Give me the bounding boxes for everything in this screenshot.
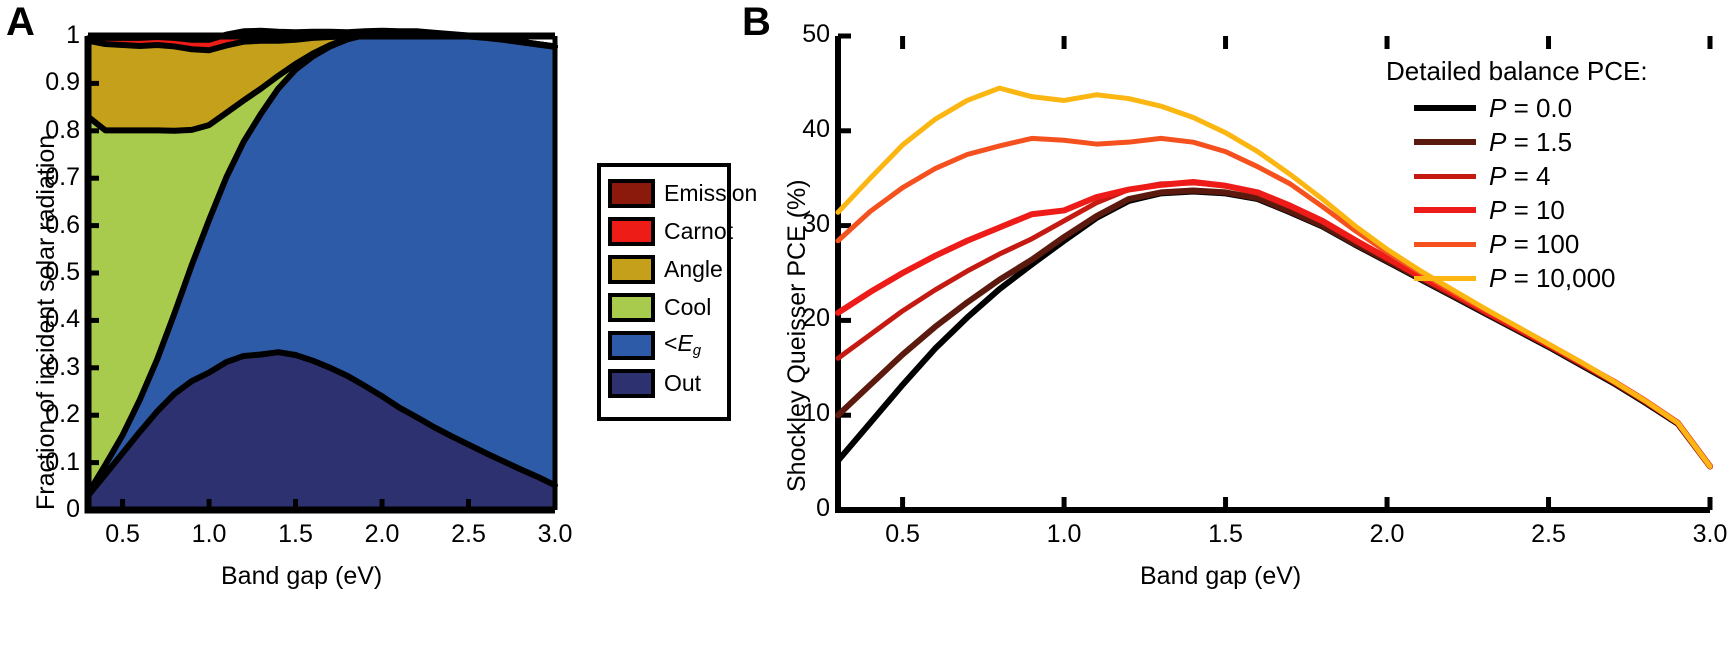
panel-b-xtick-2.0: 2.0 [1347, 520, 1427, 549]
panel-b-x-axis-title: Band gap (eV) [1140, 562, 1301, 591]
panel-a-ytick-0: 0 [22, 495, 80, 524]
panel-a-legend-item-emission: Emission [608, 174, 721, 212]
panel-b-ytick-50: 50 [768, 20, 830, 49]
panel-a-plot [60, 10, 560, 540]
panel-a-ytick-0.4: 0.4 [22, 305, 80, 334]
panel-a-ytick-0.8: 0.8 [22, 116, 80, 145]
legend-swatch-icon [608, 255, 655, 284]
panel-a-xtick-1.5: 1.5 [261, 520, 331, 549]
panel-a-legend-label: <Eg [664, 332, 701, 358]
panel-a-legend-item-cool: Cool [608, 288, 721, 326]
panel-b-xtick-2.5: 2.5 [1509, 520, 1589, 549]
panel-a-legend-label: Emission [664, 182, 757, 205]
panel-a-ytick-0.9: 0.9 [22, 68, 80, 97]
panel-b-xtick-0.5: 0.5 [863, 520, 943, 549]
panel-a-x-axis-title: Band gap (eV) [221, 562, 382, 591]
panel-a-ytick-0.7: 0.7 [22, 163, 80, 192]
panel-a-xtick-2.5: 2.5 [434, 520, 504, 549]
panel-b-xtick-1.5: 1.5 [1186, 520, 1266, 549]
panel-b-ytick-10: 10 [768, 399, 830, 428]
legend-line-icon [1414, 242, 1476, 247]
panel-b-legend-item-p100: P = 100 [1386, 227, 1686, 261]
panel-a-xtick-3.0: 3.0 [520, 520, 590, 549]
panel-b-legend-item-p15: P = 1.5 [1386, 125, 1686, 159]
panel-b-legend-label: P = 0.0 [1489, 95, 1572, 121]
panel-b-xtick-3.0: 3.0 [1670, 520, 1729, 549]
panel-b-ytick-0: 0 [768, 494, 830, 523]
panel-a-legend-label: Out [664, 372, 701, 395]
panel-b-legend-title: Detailed balance PCE: [1386, 56, 1686, 87]
panel-b-legend-label: P = 10,000 [1489, 265, 1616, 291]
panel-a-xtick-1.0: 1.0 [174, 520, 244, 549]
panel-b-ytick-40: 40 [768, 115, 830, 144]
panel-b-legend-item-p00: P = 0.0 [1386, 91, 1686, 125]
panel-a-ytick-0.2: 0.2 [22, 400, 80, 429]
panel-a-xtick-2.0: 2.0 [347, 520, 417, 549]
legend-line-icon [1414, 174, 1476, 179]
panel-b-xtick-1.0: 1.0 [1024, 520, 1104, 549]
panel-b-legend-label: P = 4 [1489, 163, 1550, 189]
figure-root: A Fraction of incident solar radiation B… [0, 0, 1729, 654]
panel-b-legend-label: P = 1.5 [1489, 129, 1572, 155]
panel-b-legend-label: P = 100 [1489, 231, 1579, 257]
panel-a-legend-item-angle: Angle [608, 250, 721, 288]
panel-b-ytick-30: 30 [768, 210, 830, 239]
legend-swatch-icon [608, 293, 655, 322]
panel-b-legend-item-p10000: P = 10,000 [1386, 261, 1686, 295]
panel-b-ytick-20: 20 [768, 304, 830, 333]
panel-a-legend-label: Angle [664, 258, 723, 281]
legend-line-icon [1414, 207, 1476, 213]
panel-a-legend-item-carnot: Carnot [608, 212, 721, 250]
legend-swatch-icon [608, 179, 655, 208]
panel-b-legend-item-p10: P = 10 [1386, 193, 1686, 227]
legend-line-icon [1414, 105, 1476, 111]
panel-a-ytick-0.3: 0.3 [22, 353, 80, 382]
legend-line-icon [1414, 139, 1476, 145]
panel-a-legend-item-eg: <Eg [608, 326, 721, 364]
panel-b-legend-item-p4: P = 4 [1386, 159, 1686, 193]
panel-a-legend-label: Cool [664, 296, 711, 319]
panel-a-legend-item-out: Out [608, 364, 721, 402]
legend-swatch-icon [608, 369, 655, 398]
legend-line-icon [1414, 276, 1476, 281]
panel-b-legend: Detailed balance PCE: P = 0.0P = 1.5P = … [1386, 56, 1686, 295]
panel-a-ytick-1: 1 [22, 21, 80, 50]
panel-a-ytick-0.5: 0.5 [22, 258, 80, 287]
panel-a-ytick-0.6: 0.6 [22, 211, 80, 240]
panel-a-legend-label: Carnot [664, 220, 733, 243]
legend-swatch-icon [608, 331, 655, 360]
panel-b-legend-label: P = 10 [1489, 197, 1565, 223]
legend-swatch-icon [608, 217, 655, 246]
panel-b-letter: B [742, 2, 771, 42]
panel-a-xtick-0.5: 0.5 [88, 520, 158, 549]
panel-a-legend: EmissionCarnotAngleCool<EgOut [597, 163, 731, 421]
panel-a-ytick-0.1: 0.1 [22, 448, 80, 477]
